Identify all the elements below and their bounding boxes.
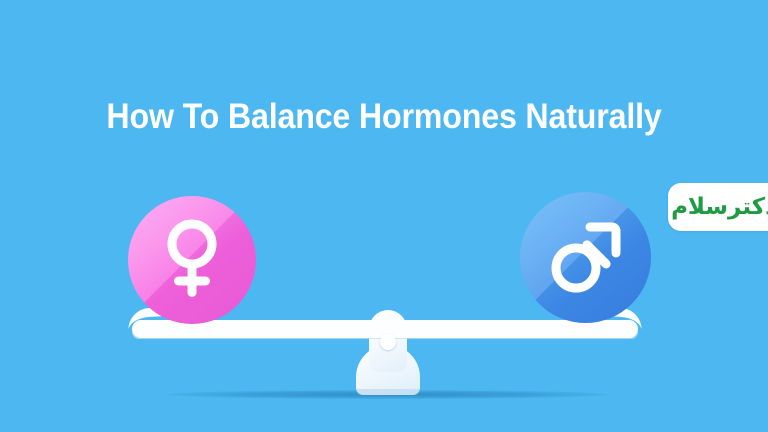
balance-scale-illustration xyxy=(0,0,768,432)
banner-canvas: How To Balance Hormones Naturally دکترسل… xyxy=(0,0,768,432)
female-symbol-circle xyxy=(128,196,256,324)
male-symbol-circle xyxy=(520,192,651,323)
female-gender-symbol-icon xyxy=(160,217,224,303)
scale-pivot-dot xyxy=(380,334,396,350)
male-gender-symbol-icon xyxy=(547,219,625,297)
